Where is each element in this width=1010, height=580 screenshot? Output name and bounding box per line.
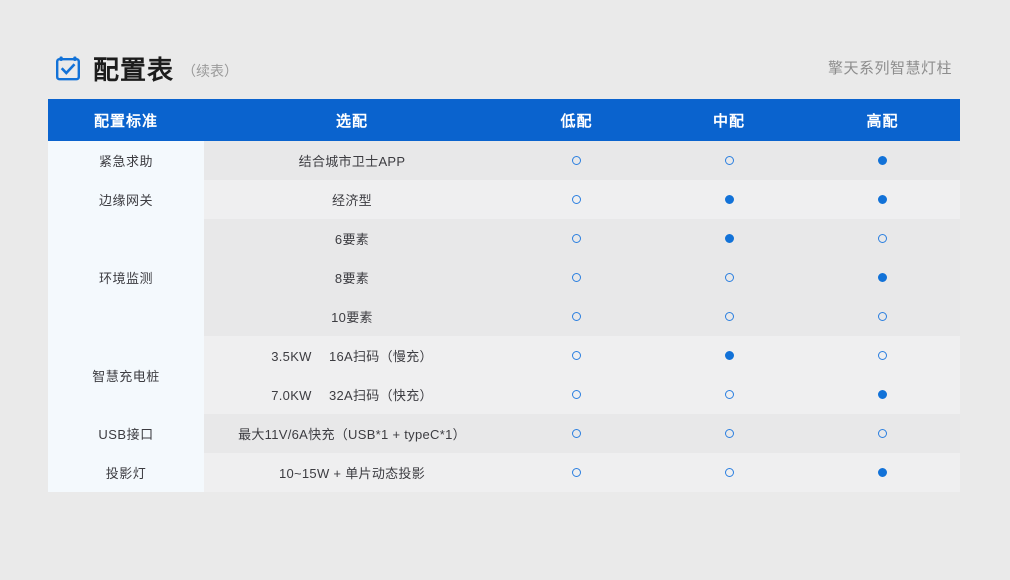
table-body: 紧急求助结合城市卫士APP边缘网关经济型环境监测6要素8要素10要素智慧充电桩3…	[48, 141, 960, 492]
filled-dot-icon	[878, 273, 887, 282]
marker-cell-mid	[653, 375, 805, 414]
hollow-circle-icon	[572, 429, 581, 438]
row-option-label: 10要素	[204, 297, 500, 336]
marker-cell-high	[805, 141, 960, 180]
filled-dot-icon	[878, 156, 887, 165]
hollow-circle-icon	[725, 312, 734, 321]
marker-cell-low	[500, 375, 653, 414]
hollow-circle-icon	[878, 351, 887, 360]
row-standard-label: 边缘网关	[48, 180, 204, 219]
marker-cell-mid	[653, 258, 805, 297]
filled-dot-icon	[725, 195, 734, 204]
marker-cell-low	[500, 180, 653, 219]
table-row: 环境监测6要素	[48, 219, 960, 258]
marker-cell-mid	[653, 141, 805, 180]
row-option-label: 8要素	[204, 258, 500, 297]
row-option-label: 6要素	[204, 219, 500, 258]
hollow-circle-icon	[725, 273, 734, 282]
hollow-circle-icon	[572, 156, 581, 165]
hollow-circle-icon	[725, 156, 734, 165]
marker-cell-mid	[653, 336, 805, 375]
row-option-label: 10~15W + 单片动态投影	[204, 453, 500, 492]
hollow-circle-icon	[878, 312, 887, 321]
marker-cell-mid	[653, 180, 805, 219]
table-row: 紧急求助结合城市卫士APP	[48, 141, 960, 180]
hollow-circle-icon	[725, 468, 734, 477]
hollow-circle-icon	[572, 351, 581, 360]
marker-cell-high	[805, 297, 960, 336]
marker-cell-low	[500, 414, 653, 453]
row-option-label: 最大11V/6A快充（USB*1 + typeC*1）	[204, 414, 500, 453]
marker-cell-high	[805, 375, 960, 414]
row-option-label: 7.0KW 32A扫码（快充）	[204, 375, 500, 414]
table-row: 智慧充电桩3.5KW 16A扫码（慢充）	[48, 336, 960, 375]
marker-cell-high	[805, 414, 960, 453]
row-option-label: 结合城市卫士APP	[204, 141, 500, 180]
page-subtitle: （续表）	[182, 58, 238, 84]
hollow-circle-icon	[572, 312, 581, 321]
page-title: 配置表	[93, 56, 174, 84]
marker-cell-low	[500, 453, 653, 492]
marker-cell-low	[500, 258, 653, 297]
marker-cell-mid	[653, 453, 805, 492]
marker-cell-low	[500, 336, 653, 375]
filled-dot-icon	[878, 390, 887, 399]
row-standard-label: 环境监测	[48, 219, 204, 336]
hollow-circle-icon	[878, 234, 887, 243]
marker-cell-mid	[653, 414, 805, 453]
row-standard-label: USB接口	[48, 414, 204, 453]
filled-dot-icon	[878, 468, 887, 477]
column-header-high: 高配	[805, 99, 960, 141]
marker-cell-high	[805, 336, 960, 375]
marker-cell-mid	[653, 219, 805, 258]
row-standard-label: 智慧充电桩	[48, 336, 204, 414]
marker-cell-low	[500, 141, 653, 180]
table-row: 边缘网关经济型	[48, 180, 960, 219]
table-header-row: 配置标准 选配 低配 中配 高配	[48, 99, 960, 141]
filled-dot-icon	[725, 234, 734, 243]
column-header-option: 选配	[204, 99, 500, 141]
table-row: 投影灯10~15W + 单片动态投影	[48, 453, 960, 492]
hollow-circle-icon	[572, 390, 581, 399]
table-row: USB接口最大11V/6A快充（USB*1 + typeC*1）	[48, 414, 960, 453]
column-header-mid: 中配	[653, 99, 805, 141]
marker-cell-high	[805, 258, 960, 297]
hollow-circle-icon	[878, 429, 887, 438]
filled-dot-icon	[725, 351, 734, 360]
title-block: 配置表 （续表）	[55, 46, 238, 84]
hollow-circle-icon	[572, 234, 581, 243]
marker-cell-high	[805, 180, 960, 219]
hollow-circle-icon	[725, 429, 734, 438]
column-header-standard: 配置标准	[48, 99, 204, 141]
page-header: 配置表 （续表） 擎天系列智慧灯柱	[0, 0, 1010, 99]
hollow-circle-icon	[572, 468, 581, 477]
marker-cell-mid	[653, 297, 805, 336]
calendar-check-icon	[55, 55, 93, 84]
hollow-circle-icon	[725, 390, 734, 399]
row-option-label: 经济型	[204, 180, 500, 219]
marker-cell-low	[500, 219, 653, 258]
row-option-label: 3.5KW 16A扫码（慢充）	[204, 336, 500, 375]
filled-dot-icon	[878, 195, 887, 204]
marker-cell-low	[500, 297, 653, 336]
config-table: 配置标准 选配 低配 中配 高配 紧急求助结合城市卫士APP边缘网关经济型环境监…	[48, 99, 960, 492]
hollow-circle-icon	[572, 273, 581, 282]
column-header-low: 低配	[500, 99, 653, 141]
marker-cell-high	[805, 453, 960, 492]
hollow-circle-icon	[572, 195, 581, 204]
brand-label: 擎天系列智慧灯柱	[828, 57, 952, 78]
table-header: 配置标准 选配 低配 中配 高配	[48, 99, 960, 141]
row-standard-label: 紧急求助	[48, 141, 204, 180]
row-standard-label: 投影灯	[48, 453, 204, 492]
marker-cell-high	[805, 219, 960, 258]
